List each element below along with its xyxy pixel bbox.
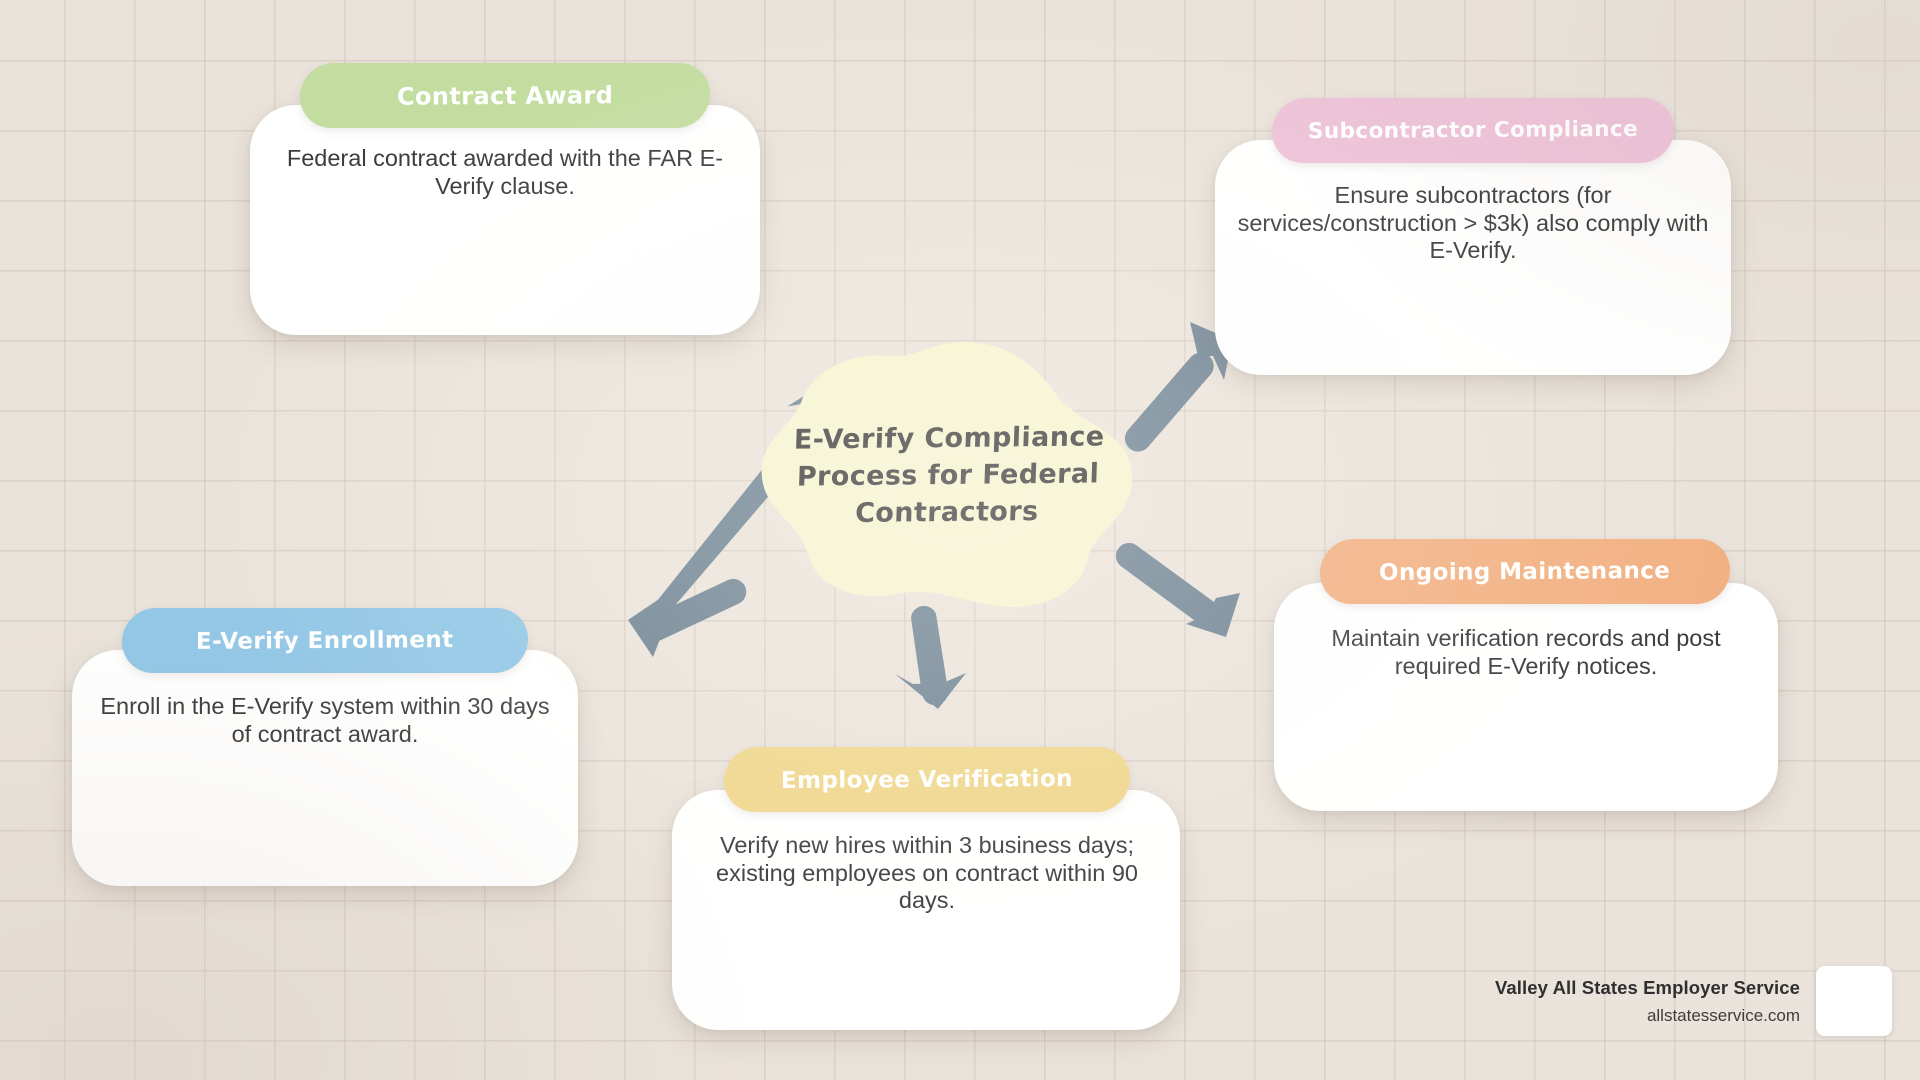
card-heading-ongoing-maintenance[interactable]: Ongoing Maintenance xyxy=(1319,539,1732,604)
central-topic-line-3: Contractors xyxy=(855,496,1039,530)
central-topic-line-2: Process for Federal xyxy=(796,458,1099,493)
footer-logo xyxy=(1816,966,1892,1036)
card-text-e-verify-enrollment: Enroll in the E-Verify system within 30 … xyxy=(90,693,560,748)
footer-branding: Valley All States Employer Service allst… xyxy=(1495,966,1892,1036)
card-text-ongoing-maintenance: Maintain verification records and post r… xyxy=(1290,625,1762,680)
card-body-e-verify-enrollment xyxy=(72,650,578,886)
card-heading-contract-award[interactable]: Contract Award xyxy=(299,63,712,128)
card-heading-e-verify-enrollment[interactable]: E-Verify Enrollment xyxy=(121,608,530,673)
card-text-contract-award: Federal contract awarded with the FAR E-… xyxy=(268,145,742,200)
card-heading-employee-verification[interactable]: Employee Verification xyxy=(723,747,1132,812)
arrow-to-employee-verification xyxy=(895,606,966,709)
footer-text-block: Valley All States Employer Service allst… xyxy=(1495,977,1800,1026)
footer-company-name: Valley All States Employer Service xyxy=(1495,977,1800,999)
central-topic-line-1: E-Verify Compliance xyxy=(793,422,1105,457)
card-heading-subcontractor-compliance[interactable]: Subcontractor Compliance xyxy=(1271,98,1676,163)
card-text-subcontractor-compliance: Ensure subcontractors (for services/cons… xyxy=(1232,182,1714,265)
mindmap-canvas: E-Verify Compliance Process for Federal … xyxy=(0,0,1920,1080)
card-body-contract-award xyxy=(250,105,760,335)
card-body-ongoing-maintenance xyxy=(1274,583,1778,811)
central-topic-title: E-Verify Compliance Process for Federal … xyxy=(753,338,1142,614)
footer-website[interactable]: allstatesservice.com xyxy=(1495,1006,1800,1026)
card-text-employee-verification: Verify new hires within 3 business days;… xyxy=(690,832,1164,915)
central-topic: E-Verify Compliance Process for Federal … xyxy=(758,340,1138,612)
